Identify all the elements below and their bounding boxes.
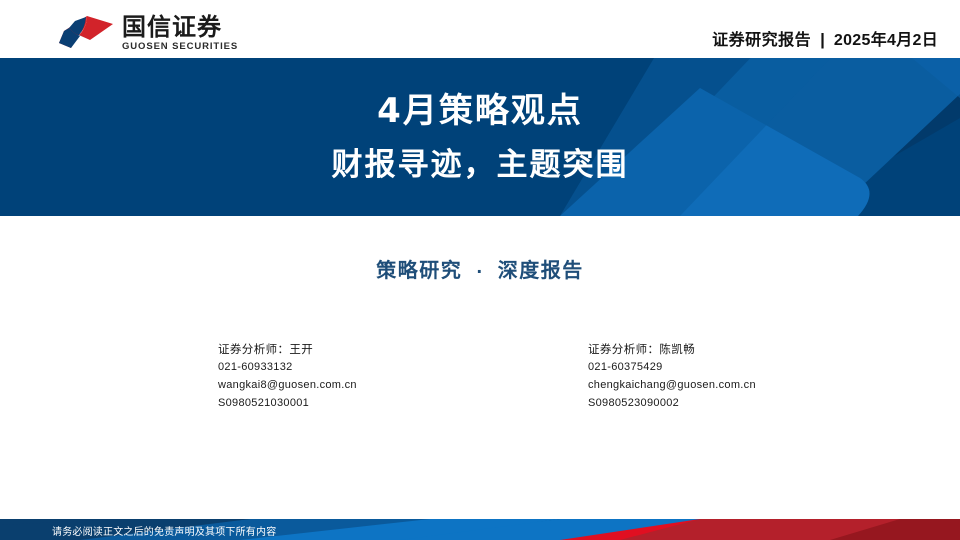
analyst-card: 证券分析师：陈凯畅 021-60375429 chengkaichang@guo… (480, 340, 960, 412)
brand-name-cn: 国信证券 (122, 14, 238, 40)
report-kind-label: 证券研究报告 (712, 26, 811, 50)
page-subtitle: 财报寻迹，主题突围 (332, 145, 629, 185)
report-date: 2025年4月2日 (834, 26, 938, 50)
analyst-phone: 021-60375429 (588, 358, 960, 376)
hero-text-block: 4月策略观点 财报寻迹，主题突围 (0, 58, 960, 216)
analyst-name: 证券分析师：陈凯畅 (588, 340, 960, 358)
analyst-card: 证券分析师：王开 021-60933132 wangkai8@guosen.co… (0, 340, 480, 412)
brand-name-en: GUOSEN SECURITIES (122, 42, 238, 52)
category-separator-dot: · (476, 262, 484, 281)
brand-logo: 国信证券 GUOSEN SECURITIES (57, 14, 238, 52)
research-category-label: 策略研究 (376, 258, 462, 282)
page-footer: 请务必阅读正文之后的免责声明及其项下所有内容 (0, 519, 960, 540)
analyst-license: S0980521030001 (218, 394, 480, 412)
footer-disclaimer: 请务必阅读正文之后的免责声明及其项下所有内容 (52, 523, 276, 538)
header-separator: | (820, 30, 825, 50)
brand-logo-text: 国信证券 GUOSEN SECURITIES (122, 14, 238, 52)
analyst-name: 证券分析师：王开 (218, 340, 480, 358)
page-title: 4月策略观点 (377, 90, 583, 132)
analyst-license: S0980523090002 (588, 394, 960, 412)
report-category-line: 策略研究·深度报告 (0, 254, 960, 283)
hero-banner: 4月策略观点 财报寻迹，主题突围 (0, 58, 960, 216)
analyst-email[interactable]: chengkaichang@guosen.com.cn (588, 376, 960, 394)
header-meta: 证券研究报告 | 2025年4月2日 (712, 26, 938, 50)
page-header: 国信证券 GUOSEN SECURITIES 证券研究报告 | 2025年4月2… (0, 0, 960, 58)
report-type-label: 深度报告 (498, 258, 584, 282)
analyst-email[interactable]: wangkai8@guosen.com.cn (218, 376, 480, 394)
analyst-phone: 021-60933132 (218, 358, 480, 376)
report-cover-page: 国信证券 GUOSEN SECURITIES 证券研究报告 | 2025年4月2… (0, 0, 960, 540)
analyst-list: 证券分析师：王开 021-60933132 wangkai8@guosen.co… (0, 340, 960, 412)
cover-body: 策略研究·深度报告 证券分析师：王开 021-60933132 wangkai8… (0, 216, 960, 519)
guosen-logo-mark-icon (57, 15, 115, 51)
